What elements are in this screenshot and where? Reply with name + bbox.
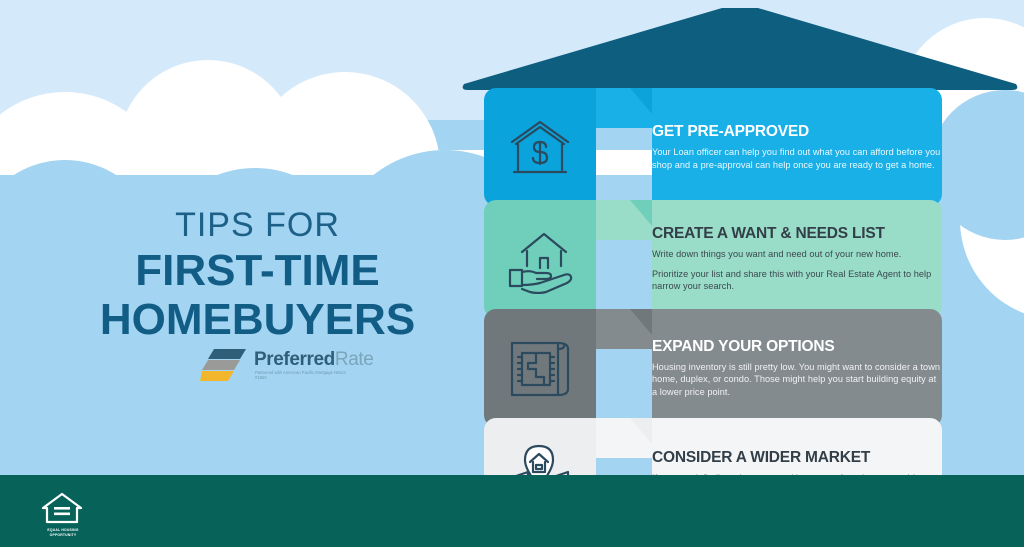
tip-card-get-pre-approved[interactable]: GET PRE-APPROVED Your Loan officer can h… xyxy=(484,88,942,206)
brand-tagline: Partnered with American Pacific Mortgage… xyxy=(255,370,351,381)
preferred-rate-mark-icon xyxy=(200,348,252,382)
headline-line-1: TIPS FOR xyxy=(60,205,455,245)
card-text: EXPAND YOUR OPTIONS Housing inventory is… xyxy=(652,309,942,427)
brand-name-light: Rate xyxy=(335,349,374,370)
house-roof-shape xyxy=(460,6,1020,90)
equal-housing-line-2: OPPORTUNITY xyxy=(34,533,92,537)
house-dollar-icon xyxy=(506,114,574,182)
card-paragraph: Your Loan officer can help you find out … xyxy=(652,146,942,171)
card-paragraph: Prioritize your list and share this with… xyxy=(652,268,942,293)
blueprint-floorplan-icon xyxy=(506,335,574,403)
card-title: CREATE A WANT & NEEDS LIST xyxy=(652,225,942,243)
hand-holding-house-icon xyxy=(506,226,574,294)
equal-housing-opportunity-icon xyxy=(40,489,84,533)
card-text: CREATE A WANT & NEEDS LIST Write down th… xyxy=(652,200,942,318)
equal-housing-caption: EQUAL HOUSING OPPORTUNITY xyxy=(34,528,92,537)
footer-band xyxy=(0,475,1024,547)
brand-name-bold: Preferred xyxy=(254,349,335,370)
headline-block: TIPS FOR FIRST-TIME HOMEBUYERS xyxy=(60,205,455,343)
tips-card-stack: GET PRE-APPROVED Your Loan officer can h… xyxy=(484,88,942,518)
icon-panel xyxy=(484,88,596,206)
card-title: GET PRE-APPROVED xyxy=(652,123,942,141)
card-paragraph: Housing inventory is still pretty low. Y… xyxy=(652,361,942,399)
card-paragraph: Write down things you want and need out … xyxy=(652,248,942,261)
icon-panel xyxy=(484,309,596,427)
card-title: CONSIDER A WIDER MARKET xyxy=(652,449,942,467)
preferred-rate-wordmark: PreferredRate xyxy=(254,350,373,370)
card-title: EXPAND YOUR OPTIONS xyxy=(652,338,942,356)
card-text: GET PRE-APPROVED Your Loan officer can h… xyxy=(652,88,942,206)
preferred-rate-logo: PreferredRate Partnered with American Pa… xyxy=(200,346,350,386)
tip-card-expand-your-options[interactable]: EXPAND YOUR OPTIONS Housing inventory is… xyxy=(484,309,942,427)
infographic-canvas: TIPS FOR FIRST-TIME HOMEBUYERS Preferred… xyxy=(0,0,1024,547)
icon-panel xyxy=(484,200,596,318)
headline-line-3: HOMEBUYERS xyxy=(60,296,455,343)
tip-card-create-a-want-and-needs-list[interactable]: CREATE A WANT & NEEDS LIST Write down th… xyxy=(484,200,942,318)
headline-line-2: FIRST-TIME xyxy=(60,247,455,294)
